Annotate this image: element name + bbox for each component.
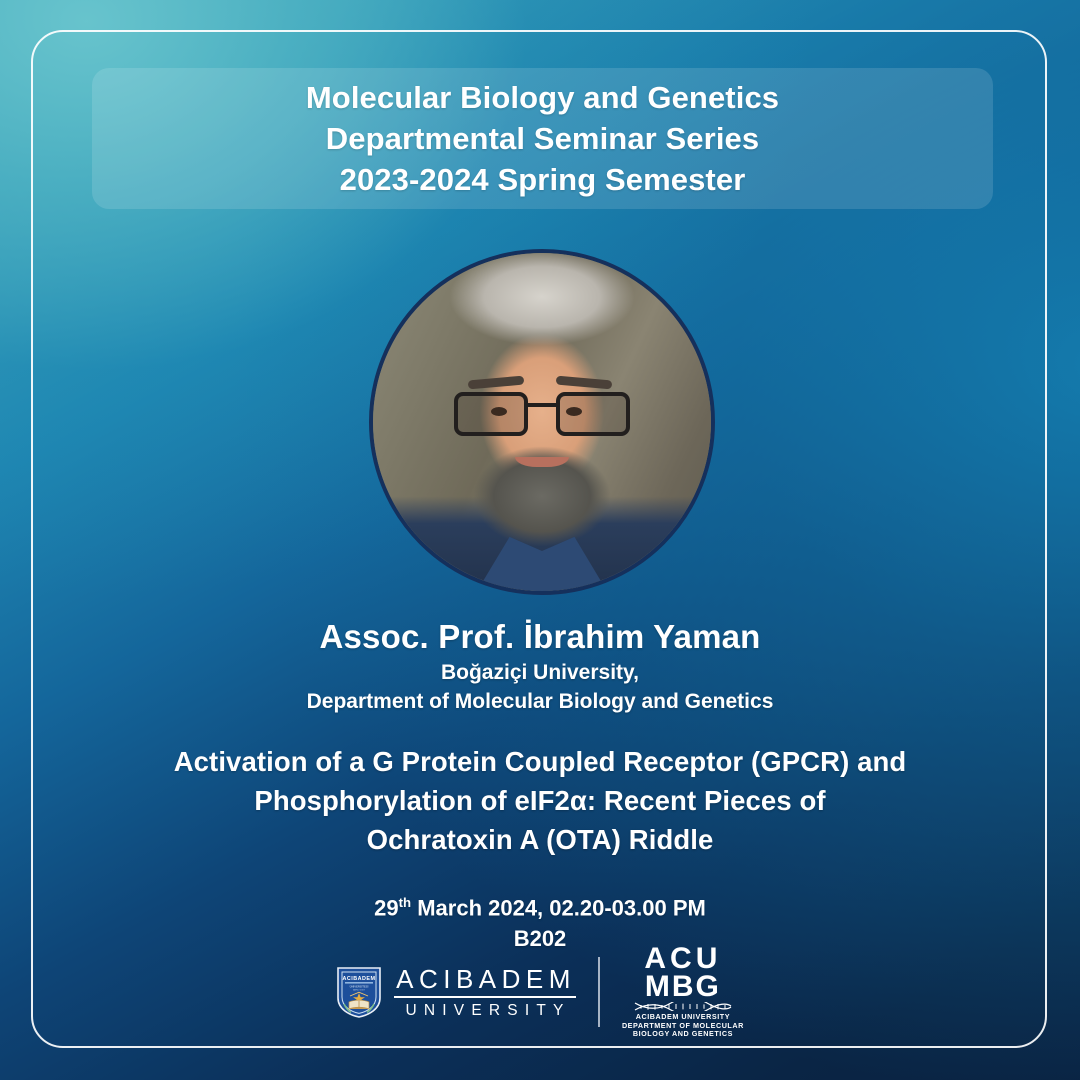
talk-title: Activation of a G Protein Coupled Recept…: [60, 742, 1020, 859]
event-details: 29th March 2024, 02.20-03.00 PM B202: [60, 887, 1020, 954]
talk-title-line-3: Ochratoxin A (OTA) Riddle: [60, 820, 1020, 859]
event-date-day: 29: [374, 895, 398, 920]
eyebrow-right: [555, 376, 612, 390]
acu-mbg-logo: ACU MBG ACIBADEM UNIVERSITY DEPARTMENT O…: [622, 945, 744, 1039]
shirt-collar: [441, 537, 644, 591]
seminar-poster: Molecular Biology and Genetics Departmen…: [0, 0, 1080, 1080]
svg-text:ACIBADEM: ACIBADEM: [343, 976, 376, 982]
eyeglasses-icon: [454, 392, 630, 436]
speaker-name: Assoc. Prof. İbrahim Yaman: [60, 616, 1020, 658]
event-date-rest: March 2024, 02.20-03.00 PM: [411, 895, 706, 920]
header-line-3: 2023-2024 Spring Semester: [340, 159, 746, 200]
speaker-photo-image: [373, 253, 711, 591]
event-date-ordinal: th: [399, 895, 411, 910]
glasses-lens-right: [556, 392, 630, 436]
acibadem-wordmark-top: ACIBADEM: [394, 965, 576, 993]
event-room: B202: [60, 923, 1020, 954]
talk-title-line-2: Phosphorylation of eIF2α: Recent Pieces …: [60, 781, 1020, 820]
poster-content: Assoc. Prof. İbrahim Yaman Boğaziçi Univ…: [60, 616, 1020, 954]
acu-mbg-initials-row-2: MBG: [644, 973, 721, 1001]
speaker-affiliation-line-1: Boğaziçi University,: [60, 658, 1020, 687]
mouth: [515, 457, 569, 467]
speaker-portrait: [369, 249, 715, 595]
acu-mbg-subtitle-line-3: BIOLOGY AND GENETICS: [633, 1030, 733, 1039]
acu-mbg-initials-row-1: ACU: [644, 945, 721, 973]
acibadem-wordmark-rule: [394, 996, 576, 998]
acibadem-wordmark: ACIBADEM UNIVERSITY: [394, 965, 576, 1020]
event-datetime: 29th March 2024, 02.20-03.00 PM: [60, 887, 1020, 923]
svg-text:ANNO 2007: ANNO 2007: [353, 989, 366, 992]
header-line-2: Departmental Seminar Series: [326, 118, 759, 159]
logo-bar: ACIBADEM ÜNİVERSİTESİ ANNO 2007 ACIBADEM…: [0, 952, 1080, 1032]
acibadem-wordmark-bottom: UNIVERSITY: [394, 1002, 576, 1020]
glasses-bridge: [528, 403, 556, 407]
dna-strand-icon: [634, 1002, 732, 1011]
header-line-1: Molecular Biology and Genetics: [306, 77, 779, 118]
logo-divider: [598, 957, 600, 1027]
acibadem-crest-icon: ACIBADEM ÜNİVERSİTESİ ANNO 2007: [336, 965, 382, 1019]
eyebrow-left: [467, 376, 524, 390]
acibadem-university-logo: ACIBADEM ÜNİVERSİTESİ ANNO 2007 ACIBADEM…: [336, 965, 576, 1020]
glasses-lens-left: [454, 392, 528, 436]
talk-title-line-1: Activation of a G Protein Coupled Recept…: [60, 742, 1020, 781]
acu-mbg-initials: ACU MBG: [644, 945, 721, 1000]
speaker-affiliation-line-2: Department of Molecular Biology and Gene…: [60, 687, 1020, 716]
header-banner: Molecular Biology and Genetics Departmen…: [92, 68, 993, 209]
